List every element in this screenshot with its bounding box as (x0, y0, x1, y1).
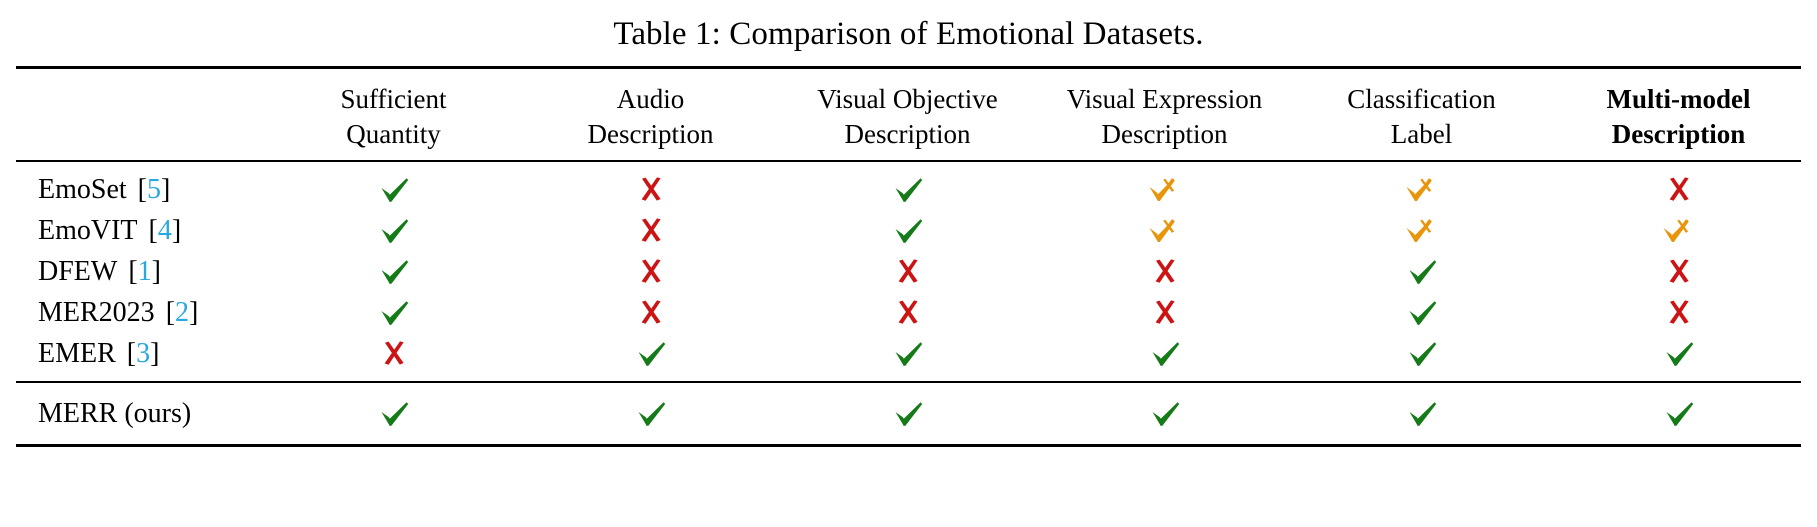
check-mark-icon (634, 337, 668, 371)
cell-visual-expression (1036, 292, 1293, 333)
table-row: EMER[3] (10, 333, 1807, 374)
cell-visual-expression (1036, 251, 1293, 292)
cell-multi-model (1550, 292, 1807, 333)
header-cell-rowlabel (10, 71, 265, 160)
cross-mark-icon (1662, 173, 1696, 207)
check-mark-icon (1662, 397, 1696, 431)
cross-mark-icon (1148, 296, 1182, 330)
table-caption: Table 1: Comparison of Emotional Dataset… (10, 0, 1807, 66)
header-cell-classification-label: Classification Label (1293, 71, 1550, 160)
cell-visual-expression (1036, 393, 1293, 434)
cell-classification (1293, 210, 1550, 251)
header-cell-visual-expression-description: Visual Expression Description (1036, 71, 1293, 160)
check-mark-icon (634, 397, 668, 431)
row-label: EMER[3] (10, 333, 265, 374)
check-mark-icon (891, 214, 925, 248)
table-bottom-rule (16, 444, 1801, 447)
row-label: MER2023[2] (10, 292, 265, 333)
cell-audio (522, 333, 779, 374)
check-mark-icon (377, 296, 411, 330)
dataset-name: DFEW (38, 256, 117, 287)
table-row: EmoVIT[4] (10, 210, 1807, 251)
citation-number: 2 (175, 297, 189, 328)
cell-sufficient (265, 251, 522, 292)
cell-multi-model (1550, 393, 1807, 434)
citation-bracket-open: [ (149, 215, 158, 246)
table-row: MER2023[2] (10, 292, 1807, 333)
cell-classification (1293, 169, 1550, 210)
row-label: MERR (ours) (10, 393, 265, 434)
table-body: EmoSet[5]EmoVIT[4]DFEW[1]MER2023[2]EMER[… (10, 169, 1807, 374)
cell-visual-objective (779, 292, 1036, 333)
header-line-1: Audio (522, 82, 779, 117)
header-cell-audio-description: Audio Description (522, 71, 779, 160)
cell-classification (1293, 393, 1550, 434)
citation-number: 5 (147, 174, 161, 205)
table-header: Sufficient Quantity Audio Description Vi… (10, 71, 1807, 160)
cross-mark-icon (634, 296, 668, 330)
row-label: EmoVIT[4] (10, 210, 265, 251)
citation-bracket-open: [ (127, 338, 136, 369)
cross-mark-icon (891, 255, 925, 289)
cell-sufficient (265, 393, 522, 434)
cell-visual-expression (1036, 169, 1293, 210)
cell-sufficient (265, 333, 522, 374)
check-mark-icon (1148, 337, 1182, 371)
partial-check-cross-mark-icon (1148, 173, 1182, 207)
table-row-highlight: MERR (ours) (10, 393, 1807, 434)
check-mark-icon (377, 397, 411, 431)
header-line-2: Quantity (265, 117, 522, 152)
header-line-2: Description (522, 117, 779, 152)
check-mark-icon (377, 173, 411, 207)
partial-check-cross-mark-icon (1405, 214, 1439, 248)
header-line-1: Sufficient (265, 82, 522, 117)
cell-visual-objective (779, 393, 1036, 434)
header-line-1: Visual Expression (1036, 82, 1293, 117)
row-label: EmoSet[5] (10, 169, 265, 210)
dataset-name: EmoVIT (38, 215, 138, 246)
citation-reference[interactable]: [5] (138, 174, 171, 205)
dataset-name: MERR (ours) (38, 398, 191, 429)
header-line-2: Description (779, 117, 1036, 152)
check-mark-icon (1662, 337, 1696, 371)
cell-multi-model (1550, 169, 1807, 210)
check-mark-icon (891, 337, 925, 371)
citation-bracket-close: ] (172, 215, 181, 246)
citation-bracket-close: ] (152, 256, 161, 287)
header-line-2: Description (1036, 117, 1293, 152)
cell-classification (1293, 333, 1550, 374)
citation-bracket-close: ] (161, 174, 170, 205)
cross-mark-icon (891, 296, 925, 330)
check-mark-icon (891, 397, 925, 431)
check-mark-icon (891, 173, 925, 207)
cross-mark-icon (1662, 296, 1696, 330)
cross-mark-icon (634, 214, 668, 248)
cell-multi-model (1550, 251, 1807, 292)
citation-bracket-open: [ (138, 174, 147, 205)
check-mark-icon (1405, 255, 1439, 289)
header-line-1: Visual Objective (779, 82, 1036, 117)
citation-bracket-close: ] (189, 297, 198, 328)
cell-sufficient (265, 169, 522, 210)
header-line-2: Description (1550, 117, 1807, 152)
cross-mark-icon (1662, 255, 1696, 289)
comparison-table-body: EmoSet[5]EmoVIT[4]DFEW[1]MER2023[2]EMER[… (10, 169, 1807, 374)
check-mark-icon (1405, 296, 1439, 330)
cell-classification (1293, 251, 1550, 292)
cell-audio (522, 169, 779, 210)
partial-check-cross-mark-icon (1405, 173, 1439, 207)
header-cell-sufficient-quantity: Sufficient Quantity (265, 71, 522, 160)
citation-number: 4 (158, 215, 172, 246)
citation-reference[interactable]: [4] (149, 215, 182, 246)
dataset-name: MER2023 (38, 297, 155, 328)
table-row: DFEW[1] (10, 251, 1807, 292)
header-cell-multi-model-description: Multi-model Description (1550, 71, 1807, 160)
check-mark-icon (377, 214, 411, 248)
row-label: DFEW[1] (10, 251, 265, 292)
citation-bracket-close: ] (150, 338, 159, 369)
header-line-1: Classification (1293, 82, 1550, 117)
cross-mark-icon (634, 255, 668, 289)
cell-visual-objective (779, 169, 1036, 210)
cell-visual-objective (779, 251, 1036, 292)
check-mark-icon (1148, 397, 1182, 431)
dataset-name: EMER (38, 338, 116, 369)
partial-check-cross-mark-icon (1662, 214, 1696, 248)
citation-number: 3 (136, 338, 150, 369)
citation-reference[interactable]: [2] (166, 297, 199, 328)
cross-mark-icon (377, 337, 411, 371)
header-line-1: Multi-model (1550, 82, 1807, 117)
citation-reference[interactable]: [1] (128, 256, 161, 287)
cell-sufficient (265, 210, 522, 251)
check-mark-icon (377, 255, 411, 289)
comparison-table-highlight: MERR (ours) (10, 393, 1807, 434)
check-mark-icon (1405, 397, 1439, 431)
cell-visual-expression (1036, 333, 1293, 374)
cell-audio (522, 292, 779, 333)
citation-number: 1 (138, 256, 152, 287)
citation-reference[interactable]: [3] (127, 338, 160, 369)
cell-visual-expression (1036, 210, 1293, 251)
cell-visual-objective (779, 333, 1036, 374)
cell-classification (1293, 292, 1550, 333)
partial-check-cross-mark-icon (1148, 214, 1182, 248)
table-figure: Table 1: Comparison of Emotional Dataset… (0, 0, 1817, 527)
header-cell-visual-objective-description: Visual Objective Description (779, 71, 1036, 160)
cross-mark-icon (1148, 255, 1182, 289)
cell-audio (522, 210, 779, 251)
header-line-2: Label (1293, 117, 1550, 152)
dataset-name: EmoSet (38, 174, 127, 205)
cell-audio (522, 251, 779, 292)
citation-bracket-open: [ (166, 297, 175, 328)
check-mark-icon (1405, 337, 1439, 371)
cell-multi-model (1550, 210, 1807, 251)
cell-multi-model (1550, 333, 1807, 374)
comparison-table: Sufficient Quantity Audio Description Vi… (10, 71, 1807, 160)
table-row: EmoSet[5] (10, 169, 1807, 210)
header-row: Sufficient Quantity Audio Description Vi… (10, 71, 1807, 160)
cell-visual-objective (779, 210, 1036, 251)
table-highlight-body: MERR (ours) (10, 393, 1807, 434)
cell-sufficient (265, 292, 522, 333)
cell-audio (522, 393, 779, 434)
citation-bracket-open: [ (128, 256, 137, 287)
cross-mark-icon (634, 173, 668, 207)
